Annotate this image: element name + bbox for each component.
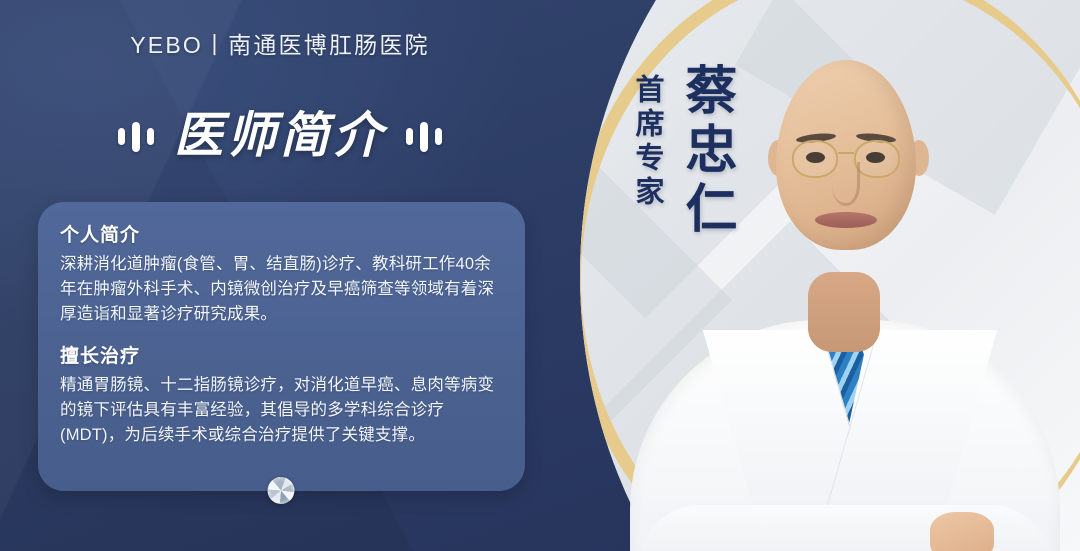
page-title: 医师简介 <box>174 112 386 161</box>
section-body-specialty: 精通胃肠镜、十二指肠镜诊疗，对消化道早癌、息肉等病变的镜下评估具有丰富经验，其倡… <box>60 373 501 448</box>
eyeglasses-lens-right <box>854 140 900 178</box>
diamond-ornament-icon <box>268 477 295 504</box>
hand <box>930 512 994 551</box>
section-body-profile: 深耕消化道肿瘤(食管、胃、结直肠)诊疗、教科研工作40余年在肿瘤外科手术、内镜微… <box>60 252 501 327</box>
portrait-name-label: 蔡忠仁 <box>669 63 744 240</box>
page-title-row: 医师简介 <box>0 112 560 161</box>
hospital-brand-title: YEBO丨南通医博肛肠医院 <box>0 26 560 60</box>
doctor-info-card: 个人简介 深耕消化道肿瘤(食管、胃、结直肠)诊疗、教科研工作40余年在肿瘤外科手… <box>38 202 525 491</box>
section-heading-profile: 个人简介 <box>60 220 501 247</box>
eyeglasses-bridge <box>838 152 854 154</box>
portrait-role-label: 首席专家 <box>627 74 669 210</box>
poster-canvas: 首席专家 蔡忠仁 YEBO丨南通医博肛肠医院 医师简介 个人简介 深耕消化道肿瘤… <box>0 0 1080 551</box>
title-ornament-right-icon <box>406 122 442 152</box>
title-ornament-left-icon <box>118 122 154 152</box>
section-heading-specialty: 擅长治疗 <box>60 341 501 368</box>
nose <box>832 162 860 206</box>
neck <box>808 272 880 352</box>
mouth <box>815 212 877 228</box>
